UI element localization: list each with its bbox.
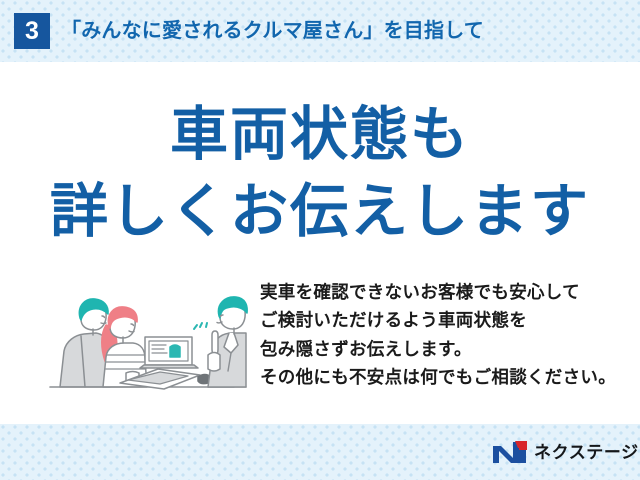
body-line-1: 実車を確認できないお客様でも安心して [260, 278, 616, 306]
section-number-badge: 3 [14, 13, 50, 49]
nextage-logo: ネクステージ [493, 438, 639, 466]
body-line-2: ご検討いただけるよう車両状態を [260, 306, 616, 334]
nextage-n-icon [493, 441, 527, 464]
body-line-4: その他にも不安点は何でもご相談ください。 [260, 363, 616, 391]
promo-banner: 3 「みんなに愛されるクルマ屋さん」を目指して 車両状態も 詳しくお伝えします [0, 0, 640, 480]
headline: 車両状態も 詳しくお伝えします [0, 96, 640, 250]
content-row: 実車を確認できないお客様でも安心して ご検討いただけるよう車両状態を 包み隠さず… [0, 272, 640, 397]
nextage-logo-text: ネクステージ [534, 444, 639, 461]
header-title: 「みんなに愛されるクルマ屋さん」を目指して [61, 21, 484, 41]
header: 3 「みんなに愛されるクルマ屋さん」を目指して [0, 0, 640, 62]
headline-line-1: 車両状態も [0, 96, 640, 173]
nextage-logo-mark-icon [493, 441, 527, 464]
consultation-illustration-svg [48, 275, 248, 395]
body-line-3: 包み隠さずお伝えします。 [260, 335, 616, 363]
headline-line-2: 詳しくお伝えします [0, 173, 640, 250]
body-copy: 実車を確認できないお客様でも安心して ご検討いただけるよう車両状態を 包み隠さず… [260, 278, 616, 391]
consultation-illustration [48, 275, 248, 395]
